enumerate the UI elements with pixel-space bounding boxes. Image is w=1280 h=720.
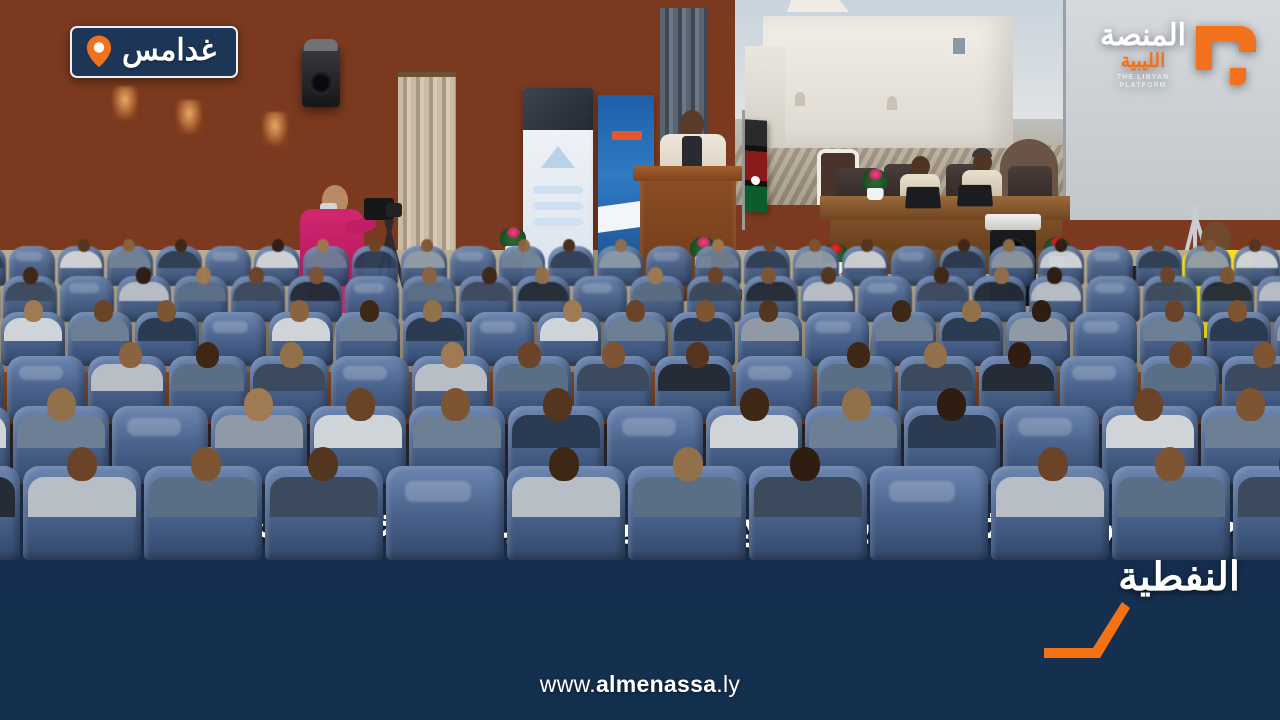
attendee-shoulders [176,282,226,301]
attendee-head [346,388,375,420]
attendee-head [441,388,470,420]
attendee-shoulders [233,282,283,301]
attendee-head [309,267,324,284]
attendee-head [78,239,90,252]
attendee-shoulders [1277,318,1280,341]
attendee-shoulders [1202,282,1252,301]
attendee-head [1134,388,1163,420]
attendee-shoulders [942,251,984,268]
attendee-shoulders [0,415,6,448]
auditorium-seat [144,466,262,560]
attendee-shoulders [138,318,197,341]
attendee-head [761,267,776,284]
attendee-shoulders [746,251,788,268]
attendee-head [958,239,970,252]
attendee-shoulders [754,477,863,516]
auditorium-seat [265,466,383,560]
attendee-head [809,239,821,252]
attendee-shoulders [607,318,666,341]
attendee-shoulders [550,251,592,268]
attendee-shoulders [172,364,244,391]
brand-qualifier-arabic: الليبية [1100,52,1186,71]
attendee-shoulders [518,282,568,301]
flower-pot [862,170,888,200]
auditorium-seat [507,466,625,560]
attendee-head [759,300,778,321]
attendee-shoulders [991,251,1033,268]
attendee-shoulders [1144,364,1216,391]
attendee-head [740,388,769,420]
attendee-head [994,267,1009,284]
attendee-head [360,300,379,321]
location-badge[interactable]: غدامس [70,26,238,78]
wall-sconce-icon [262,112,288,146]
attendee-shoulders [632,282,682,301]
attendee-head [24,300,43,321]
attendee-shoulders [633,477,742,516]
location-label: غدامس [122,36,216,66]
attendee-head [549,447,579,481]
attendee-head [602,342,625,368]
attendee-shoulders [697,251,739,268]
url-brand: almenassa [596,671,716,697]
attendee-head [1055,239,1067,252]
attendee-head [696,300,715,321]
attendee-shoulders [741,318,800,341]
attendee-head [1249,239,1261,252]
attendee-head [962,300,981,321]
attendee-shoulders [901,364,973,391]
attendee-head [317,239,329,252]
auditorium-seat [991,466,1109,560]
attendee-head [123,239,135,252]
attendee-head [249,267,264,284]
attendee-shoulders [1143,318,1202,341]
attendee-head [847,342,870,368]
attendee-shoulders [689,282,739,301]
auditorium-seat [0,466,20,560]
attendee-head [47,388,76,420]
attendee-shoulders [354,251,396,268]
attendee-head [1003,239,1015,252]
attendee-head [934,267,949,284]
attendee-head [892,300,911,321]
attendee-head [1253,342,1276,368]
brand-name-latin-line2: PLATFORM [1100,82,1186,91]
attendee-shoulders [0,477,15,516]
attendee-shoulders [512,477,621,516]
attendee-shoulders [1210,318,1269,341]
attendee-head [861,239,873,252]
attendee-head [1220,267,1235,284]
attendee-shoulders [803,282,853,301]
attendee-shoulders [1238,477,1280,516]
attendee-head [196,342,219,368]
attendee-shoulders [415,364,487,391]
attendee-head [175,239,187,252]
brand-name-arabic: المنصة [1100,22,1186,51]
brand-logo[interactable]: المنصة الليبية THE LIBYAN PLATFORM [1100,20,1264,91]
attendee-head [441,342,464,368]
attendee-head [708,267,723,284]
attendee-head [712,239,724,252]
attendee-shoulders [1138,251,1180,268]
attendee-shoulders [1031,282,1081,301]
attendee-shoulders [1187,251,1229,268]
attendee-shoulders [658,364,730,391]
attendee-head [563,239,575,252]
attendee-head [23,267,38,284]
attendee-head [1155,447,1185,481]
attendee-shoulders [0,251,4,268]
attendee-shoulders [501,251,543,268]
attendee-shoulders [60,251,102,268]
attendee-head [924,342,947,368]
brand-wordmark: المنصة الليبية THE LIBYAN PLATFORM [1100,20,1186,91]
attendee-head [543,388,572,420]
attendee-head [1228,300,1247,321]
attendee-shoulders [917,282,967,301]
attendee-shoulders [461,282,511,301]
attendee-shoulders [996,477,1105,516]
attendee-shoulders [0,364,1,391]
url-prefix: www. [540,671,596,697]
attendee-shoulders [820,364,892,391]
attendee-shoulders [1145,282,1195,301]
attendee-shoulders [577,364,649,391]
site-url[interactable]: www.almenassa.ly [0,671,1280,698]
attendee-head [518,239,530,252]
attendee-head [196,267,211,284]
attendee-head [1008,342,1031,368]
attendee-head [244,388,273,420]
attendee-shoulders [91,364,163,391]
audience-seating [0,246,1280,546]
attendee-shoulders [119,282,169,301]
attendee-head [1160,267,1175,284]
attendee-shoulders [270,477,379,516]
attendee-head [421,239,433,252]
attendee-shoulders [109,251,151,268]
attendee-head [842,388,871,420]
attendee-shoulders [875,318,934,341]
auditorium-seat [1112,466,1230,560]
attendee-shoulders [1205,415,1280,448]
attendee-head [136,267,151,284]
attendee-shoulders [1236,251,1278,268]
attendee-head [290,300,309,321]
attendee-shoulders [149,477,258,516]
attendee-head [764,239,776,252]
orange-corner-icon [1030,602,1130,658]
auditorium-seat [870,466,988,560]
attendee-head [535,267,550,284]
auditorium-seat [23,466,141,560]
attendee-shoulders [599,251,641,268]
projector-icon [985,214,1041,230]
attendee-shoulders [158,251,200,268]
attendee-head [1152,239,1164,252]
attendee-shoulders [674,318,733,341]
attendee-head [626,300,645,321]
attendee-head [1204,239,1216,252]
auditorium-seat [628,466,746,560]
almenassa-logo-mark-icon [1190,22,1264,90]
auditorium-seat [1233,466,1280,560]
attendee-shoulders [403,251,445,268]
attendee-shoulders [256,251,298,268]
attendee-head [191,447,221,481]
attendee-shoulders [1040,251,1082,268]
auditorium-seat [749,466,867,560]
attendee-head [369,239,381,252]
attendee-shoulders [982,364,1054,391]
map-pin-icon [86,35,112,67]
attendee-head [422,267,437,284]
attendee-head [518,342,541,368]
attendee-head [563,300,582,321]
camera-lens-icon [386,203,402,217]
attendee-shoulders [339,318,398,341]
attendee-head [648,267,663,284]
attendee-shoulders [272,318,331,341]
attendee-head [673,447,703,481]
wall-sconce-icon [176,100,202,134]
attendee-shoulders [1259,282,1280,301]
auditorium-seat [386,466,504,560]
attendee-head [280,342,303,368]
attendee-head [821,267,836,284]
attendee-shoulders [1009,318,1068,341]
attendee-head [1165,300,1184,321]
attendee-shoulders [4,318,63,341]
attendee-head [615,239,627,252]
attendee-head [1169,342,1192,368]
attendee-shoulders [746,282,796,301]
attendee-shoulders [71,318,130,341]
attendee-head [157,300,176,321]
attendee-head [308,447,338,481]
attendee-shoulders [795,251,837,268]
laptop-icon [905,187,941,209]
attendee-head [937,388,966,420]
attendee-shoulders [844,251,886,268]
attendee-shoulders [28,477,137,516]
brand-name-latin-line1: THE LIBYAN [1100,74,1186,83]
attendee-shoulders [404,282,454,301]
attendee-shoulders [406,318,465,341]
attendee-head [94,300,113,321]
attendee-head [1038,447,1068,481]
attendee-head [423,300,442,321]
attendee-head [1236,388,1265,420]
attendee-head [790,447,820,481]
attendee-shoulders [1225,364,1280,391]
attendee-shoulders [253,364,325,391]
url-suffix: .ly [716,671,740,697]
wall-sconce-icon [112,86,138,120]
attendee-shoulders [290,282,340,301]
wall-speaker-icon [302,45,340,107]
laptop-icon [957,185,993,207]
attendee-head [482,267,497,284]
attendee-head [272,239,284,252]
attendee-shoulders [305,251,347,268]
attendee-head [67,447,97,481]
attendee-head [1047,267,1062,284]
attendee-shoulders [5,282,55,301]
attendee-shoulders [1117,477,1226,516]
attendee-head [1032,300,1051,321]
attendee-shoulders [942,318,1001,341]
attendee-shoulders [496,364,568,391]
libyan-flag-icon [745,119,767,213]
thumbnail-canvas: غدامس المنصة الليبية THE LIBYAN PLATFORM… [0,0,1280,720]
attendee-shoulders [540,318,599,341]
attendee-head [686,342,709,368]
attendee-head [119,342,142,368]
attendee-shoulders [974,282,1024,301]
